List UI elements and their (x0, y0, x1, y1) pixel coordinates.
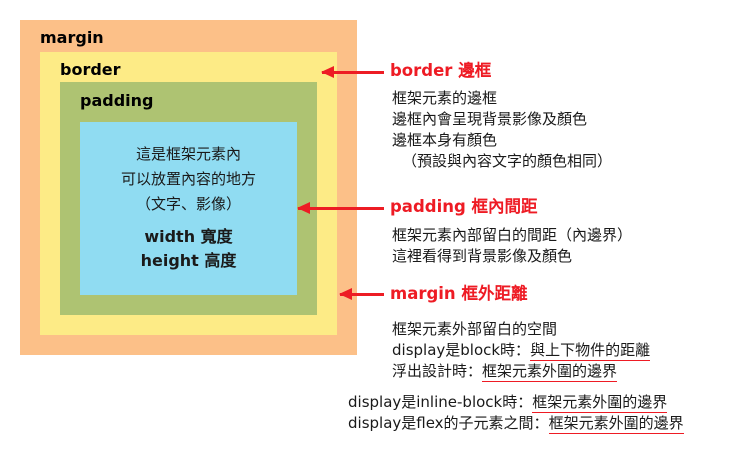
border-heading-en: border (390, 61, 452, 80)
margin-body-line: 框架元素外部留白的空間 (392, 319, 650, 340)
border-body-line: 框架元素的邊框 (392, 88, 612, 109)
padding-body-line: 框架元素內部留白的間距（內邊界） (392, 225, 632, 246)
border-body-note-text: （預設與內容文字的顏色相同） (392, 151, 612, 172)
border-body-line: 邊框本身有顏色 (392, 130, 612, 151)
margin-annotation-heading: margin 框外距離 (390, 286, 527, 303)
border-heading-zh: 邊框 (458, 61, 491, 80)
padding-heading-zh: 框內間距 (472, 197, 538, 216)
margin-flex-underlined: 框架元素外圍的邊界 (549, 414, 684, 434)
border-annotation-heading: border 邊框 (390, 63, 491, 80)
border-annotation-body: 框架元素的邊框 邊框內會呈現背景影像及顏色 邊框本身有顏色 （預設與內容文字的顏… (392, 88, 612, 172)
margin-inlineblock-underlined: 框架元素外圍的邊界 (532, 393, 667, 413)
margin-body-line-inlineblock: display是inline-block時：框架元素外圍的邊界 (348, 392, 684, 413)
border-body-line: 邊框內會呈現背景影像及顏色 (392, 109, 612, 130)
margin-body-line-flex: display是flex的子元素之間：框架元素外圍的邊界 (348, 413, 684, 434)
margin-body-line-float: 浮出設計時：框架元素外圍的邊界 (392, 361, 650, 382)
border-body-line-note: （預設與內容文字的顏色相同） (392, 151, 612, 172)
margin-inlineblock-prefix: display是inline-block時： (348, 393, 532, 411)
margin-body-line-block: display是block時：與上下物件的距離 (392, 340, 650, 361)
margin-heading-en: margin (390, 284, 456, 303)
margin-float-prefix: 浮出設計時： (392, 362, 482, 380)
padding-heading-en: padding (390, 197, 466, 216)
margin-float-underlined: 框架元素外圍的邊界 (482, 362, 617, 382)
margin-annotation-body-extra: display是inline-block時：框架元素外圍的邊界 display是… (348, 392, 684, 434)
padding-body-line: 這裡看得到背景影像及顏色 (392, 246, 632, 267)
padding-annotation-heading: padding 框內間距 (390, 199, 538, 216)
margin-heading-zh: 框外距離 (461, 284, 527, 303)
margin-annotation-body: 框架元素外部留白的空間 display是block時：與上下物件的距離 浮出設計… (392, 319, 650, 382)
margin-block-prefix: display是block時： (392, 341, 530, 359)
margin-flex-prefix: display是flex的子元素之間： (348, 414, 549, 432)
annotations-column: border 邊框 框架元素的邊框 邊框內會呈現背景影像及顏色 邊框本身有顏色 … (0, 0, 750, 461)
margin-block-underlined: 與上下物件的距離 (530, 341, 650, 361)
padding-annotation-body: 框架元素內部留白的間距（內邊界） 這裡看得到背景影像及顏色 (392, 225, 632, 267)
